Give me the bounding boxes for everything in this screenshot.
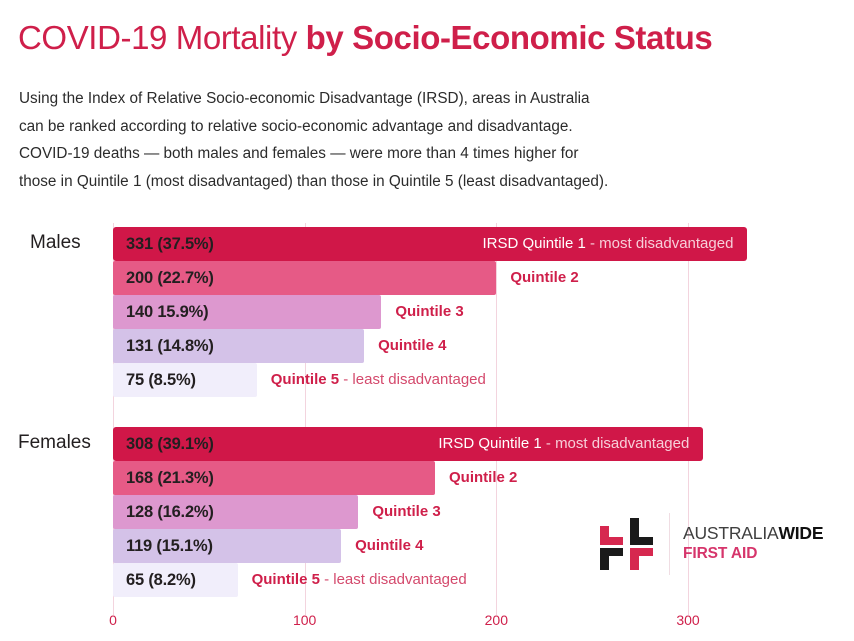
quintile-label-name: Quintile 2 xyxy=(449,469,517,486)
x-axis-tick-200: 200 xyxy=(485,612,508,628)
bar-value-label: 119 (15.1%) xyxy=(126,529,213,563)
quintile-label-name: IRSD Quintile 1 xyxy=(438,435,541,452)
quintile-label-name: Quintile 3 xyxy=(395,303,463,320)
bar-value-label: 75 (8.5%) xyxy=(126,363,196,397)
x-axis-tick-0: 0 xyxy=(109,612,117,628)
bar-value-label: 200 (22.7%) xyxy=(126,261,214,295)
quintile-label-q5: Quintile 5 - least disadvantaged xyxy=(271,363,486,397)
quintile-label-name: Quintile 3 xyxy=(372,503,440,520)
page-title-bold: by Socio-Economic Status xyxy=(306,19,713,56)
bar-value-label: 140 15.9%) xyxy=(126,295,208,329)
brand-logo: AUSTRALIAWIDE FIRST AID xyxy=(599,513,831,575)
quintile-label-name: Quintile 5 xyxy=(271,371,339,388)
quintile-label-q5: Quintile 5 - least disadvantaged xyxy=(252,563,467,597)
quintile-label-desc: - least disadvantaged xyxy=(339,371,486,388)
x-axis-tick-300: 300 xyxy=(676,612,699,628)
bar-value-label: 308 (39.1%) xyxy=(126,427,214,461)
x-axis: 0100200300 xyxy=(0,612,854,637)
logo-name-australia: AUSTRALIA xyxy=(683,523,778,543)
intro-line-4: those in Quintile 1 (most disadvantaged)… xyxy=(19,168,819,196)
logo-tagline: FIRST AID xyxy=(683,544,823,564)
bar-value-label: 331 (37.5%) xyxy=(126,227,214,261)
page-title-light: COVID-19 Mortality xyxy=(18,19,306,56)
quintile-label-name: Quintile 4 xyxy=(378,337,446,354)
intro-line-2: can be ranked according to relative soci… xyxy=(19,113,819,141)
quintile-label-q1: IRSD Quintile 1 - most disadvantaged xyxy=(482,227,733,261)
quintile-label-desc: - most disadvantaged xyxy=(542,435,690,452)
quintile-label-q3: Quintile 3 xyxy=(395,295,463,329)
quintile-label-desc: - most disadvantaged xyxy=(586,235,734,252)
header: COVID-19 Mortality by Socio-Economic Sta… xyxy=(18,18,836,58)
quintile-label-q4: Quintile 4 xyxy=(355,529,423,563)
x-axis-tick-100: 100 xyxy=(293,612,316,628)
quintile-label-q4: Quintile 4 xyxy=(378,329,446,363)
quintile-label-name: Quintile 2 xyxy=(510,269,578,286)
logo-name: AUSTRALIAWIDE xyxy=(683,523,823,544)
bar-group-males: Males331 (37.5%)IRSD Quintile 1 - most d… xyxy=(0,227,854,397)
quintile-label-desc: - least disadvantaged xyxy=(320,571,467,588)
quintile-label-q3: Quintile 3 xyxy=(372,495,440,529)
australia-wide-cross-icon xyxy=(599,517,655,571)
bar-value-label: 65 (8.2%) xyxy=(126,563,196,597)
quintile-label-name: Quintile 5 xyxy=(252,571,320,588)
bar-value-label: 128 (16.2%) xyxy=(126,495,214,529)
quintile-label-q2: Quintile 2 xyxy=(510,261,578,295)
bar-value-label: 131 (14.8%) xyxy=(126,329,214,363)
quintile-label-q1: IRSD Quintile 1 - most disadvantaged xyxy=(438,427,689,461)
quintile-label-q2: Quintile 2 xyxy=(449,461,517,495)
logo-name-wide: WIDE xyxy=(778,523,823,543)
group-label-males: Males xyxy=(30,232,81,254)
page-title: COVID-19 Mortality by Socio-Economic Sta… xyxy=(18,18,836,58)
group-label-females: Females xyxy=(18,432,91,454)
intro-line-3: COVID-19 deaths — both males and females… xyxy=(19,140,819,168)
quintile-label-name: Quintile 4 xyxy=(355,537,423,554)
intro-paragraph: Using the Index of Relative Socio-econom… xyxy=(19,85,819,195)
logo-divider xyxy=(669,513,670,575)
quintile-label-name: IRSD Quintile 1 xyxy=(482,235,585,252)
logo-wordmark: AUSTRALIAWIDE FIRST AID xyxy=(683,523,823,564)
intro-line-1: Using the Index of Relative Socio-econom… xyxy=(19,85,819,113)
bar-value-label: 168 (21.3%) xyxy=(126,461,214,495)
